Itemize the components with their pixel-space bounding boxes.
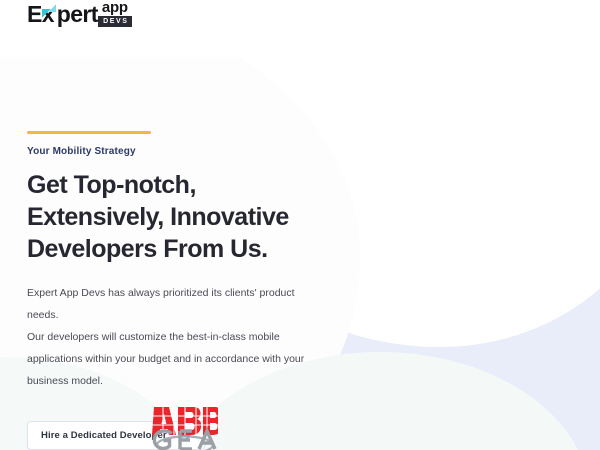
hero-section: Your Mobility Strategy Get Top-notch, Ex… — [27, 131, 357, 450]
hero-paragraph-line: Expert App Devs has always prioritized i… — [27, 282, 327, 304]
brand-logo-app-text: app — [98, 1, 132, 15]
brand-logo-devs-text: DEVS — [98, 16, 132, 27]
page-root: Expert app DEVS Your Mobility Strategy G… — [0, 0, 600, 450]
client-logo-strip — [141, 405, 261, 450]
brand-logo-x-icon: x — [42, 1, 57, 27]
hero-title-line: Extensively, Innovative — [27, 203, 289, 231]
hero-paragraph-line: applications within your budget and in a… — [27, 348, 327, 370]
client-logo-gea — [144, 425, 226, 450]
brand-logo-pert: pert — [57, 1, 98, 27]
hero-paragraph-line: Our developers will customize the best-i… — [27, 326, 327, 348]
hero-paragraph: Expert App Devs has always prioritized i… — [27, 282, 327, 392]
hero-title: Get Top-notch, Extensively, Innovative D… — [27, 169, 337, 265]
hero-title-line: Get Top-notch, — [27, 171, 196, 199]
hero-eyebrow: Your Mobility Strategy — [27, 146, 357, 158]
brand-logo-x-letter: x — [42, 1, 54, 27]
brand-logo-wordmark: Expert — [27, 1, 98, 27]
brand-logo[interactable]: Expert app DEVS — [27, 1, 132, 27]
hero-title-line: Developers From Us. — [27, 235, 268, 263]
hero-paragraph-line: business model. — [27, 370, 327, 392]
hero-accent-rule — [27, 131, 151, 134]
brand-logo-appdevs: app DEVS — [98, 1, 132, 27]
hero-paragraph-line: needs. — [27, 304, 327, 326]
brand-logo-e: E — [27, 1, 42, 27]
site-header: Expert app DEVS — [0, 0, 600, 57]
